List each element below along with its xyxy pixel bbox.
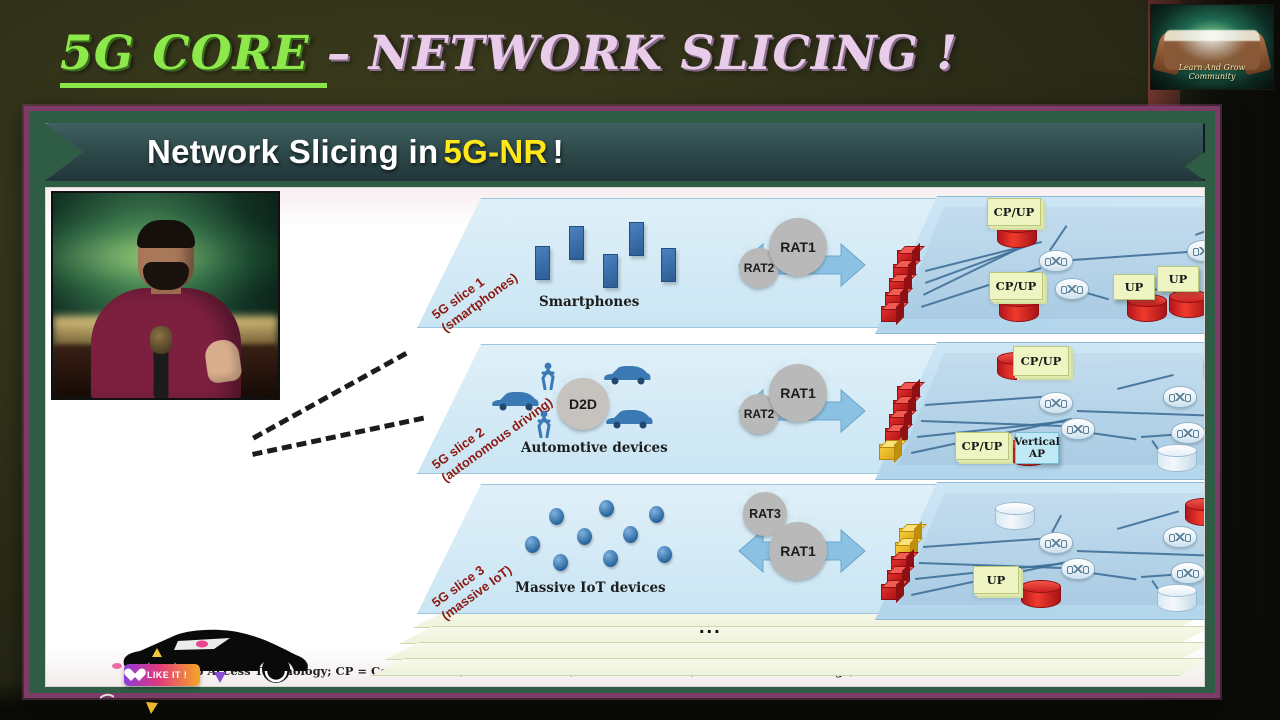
screen: 5G CORE – NETWORK SLICING ! Learn And Gr… — [0, 0, 1280, 720]
iot-device-icon — [549, 508, 564, 525]
slice-3-note-up: UP — [973, 566, 1019, 594]
banner-text-before: Network Slicing in — [147, 133, 438, 171]
confetti-particle — [112, 662, 122, 670]
heart-icon — [128, 668, 142, 682]
router-node — [1163, 386, 1197, 408]
smartphone-icon — [535, 246, 550, 280]
router-node — [1055, 278, 1089, 300]
confetti-particle — [152, 648, 162, 658]
car-icon — [489, 388, 541, 412]
slice-2-note-cp-up-bottom: CP/UP — [955, 432, 1009, 460]
slice-2-gear-d2d: D2D — [557, 378, 609, 430]
slice-1-note-up-right: UP — [1157, 266, 1199, 292]
router-node — [1061, 558, 1095, 580]
storage-node — [1157, 444, 1197, 474]
car-icon — [601, 362, 653, 386]
logo-caption: Learn And Grow Community — [1151, 63, 1273, 81]
slice-2-gear-rat2-label: RAT2 — [744, 407, 774, 421]
iot-device-icon — [577, 528, 592, 545]
iot-device-icon — [553, 554, 568, 571]
router-node — [1039, 392, 1073, 414]
server-node — [1169, 290, 1205, 320]
extra-slice-layer — [371, 658, 1205, 676]
confetti-particle — [214, 672, 226, 683]
slice-2-gear-rat1-label: RAT1 — [780, 385, 816, 401]
pedestrian-icon — [535, 410, 553, 438]
microphone-icon — [150, 326, 172, 354]
slice-1-note-cp-up-bottom: CP/UP — [989, 272, 1043, 300]
slice-2-caption: Automotive devices — [521, 440, 668, 456]
banner-text-highlight: 5G-NR — [443, 133, 547, 171]
slice-2-gear-rat1: RAT1 — [769, 364, 827, 422]
like-button[interactable]: LIKE IT ! — [124, 664, 200, 686]
logo-caption-line2: Community — [1151, 72, 1273, 81]
slice-row-2: 5G slice 2 (autonomous driving) — [417, 344, 1205, 490]
storage-node — [1157, 584, 1197, 614]
page-title-green: 5G CORE — [60, 26, 327, 88]
router-node — [1039, 250, 1073, 272]
slice-2-note-cp-up-top: CP/UP — [1013, 346, 1069, 376]
slice-2-note-vertical-ap: Vertical AP — [1015, 432, 1059, 464]
confetti-particle — [100, 692, 114, 700]
server-node — [1021, 580, 1061, 610]
iot-device-icon — [603, 550, 618, 567]
car-icon — [603, 406, 655, 430]
confetti-particle — [146, 702, 158, 714]
slice-1-gear-rat1: RAT1 — [769, 218, 827, 276]
page-title: 5G CORE – NETWORK SLICING ! — [60, 26, 958, 81]
iot-device-icon — [649, 506, 664, 523]
smartphone-icon — [569, 226, 584, 260]
presenter-hair — [137, 220, 195, 248]
storage-node — [1203, 356, 1205, 386]
presenter-webcam — [51, 191, 280, 400]
slide-content: ... 5G slice 1 (smartphones) Smartphones — [45, 187, 1205, 687]
storage-node — [995, 502, 1035, 532]
smartphone-icon — [629, 222, 644, 256]
slice-1-note-up-left: UP — [1113, 274, 1155, 300]
learn-and-grow-community-logo: Learn And Grow Community — [1150, 4, 1274, 90]
pedestrian-icon — [539, 362, 557, 390]
slice-3-gear-rat3-label: RAT3 — [749, 507, 781, 521]
slice-1-gear-rat2-label: RAT2 — [744, 261, 774, 275]
slice-3-caption: Massive IoT devices — [515, 580, 666, 596]
slice-1-gear-rat1-label: RAT1 — [780, 239, 816, 255]
slice-3-gear-rat1-label: RAT1 — [780, 543, 816, 559]
slice-3-gear-rat1: RAT1 — [769, 522, 827, 580]
server-node — [1185, 498, 1205, 528]
smartphone-icon — [603, 254, 618, 288]
router-node — [1171, 562, 1205, 584]
slice-1-caption: Smartphones — [539, 294, 639, 310]
banner-text-after: ! — [553, 133, 564, 171]
slide-frame: Network Slicing in 5G-NR ! ... 5G slice … — [24, 106, 1220, 698]
vertical-device-icon — [879, 444, 897, 460]
logo-caption-line1: Learn And Grow — [1151, 63, 1273, 72]
iot-device-icon — [623, 526, 638, 543]
slice-row-1: 5G slice 1 (smartphones) Smartphones — [417, 198, 1205, 344]
network-slicing-diagram: ... 5G slice 1 (smartphones) Smartphones — [321, 192, 1201, 684]
iot-device-icon — [599, 500, 614, 517]
iot-device-icon — [657, 546, 672, 563]
base-station-icon — [881, 306, 899, 322]
slice-1-note-cp-up-top: CP/UP — [987, 198, 1041, 226]
router-node — [1061, 418, 1095, 440]
iot-device-icon — [525, 536, 540, 553]
router-node — [1163, 526, 1197, 548]
slide-banner-title: Network Slicing in 5G-NR ! — [147, 123, 564, 181]
smartphone-icon — [661, 248, 676, 282]
extra-slice-layer — [385, 642, 1205, 660]
router-node — [1171, 422, 1205, 444]
slice-row-3: 5G slice 3 (massive IoT) Massive IoT dev… — [417, 484, 1205, 630]
like-button-label: LIKE IT ! — [147, 670, 187, 680]
page-title-pink: – NETWORK SLICING ! — [327, 26, 958, 81]
slice-2-gear-d2d-label: D2D — [569, 396, 597, 412]
confetti-particle — [196, 640, 208, 648]
base-station-icon — [881, 584, 899, 600]
router-node — [1039, 532, 1073, 554]
